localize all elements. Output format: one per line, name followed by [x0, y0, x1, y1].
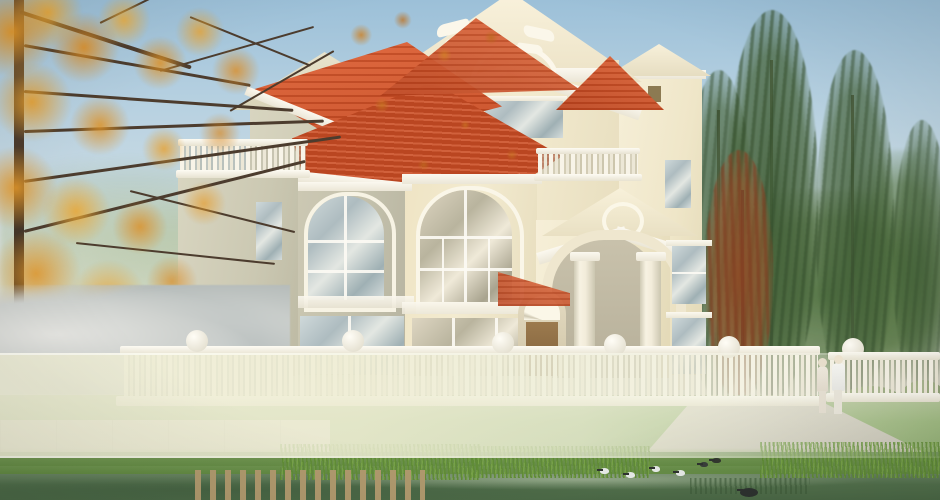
- bird: [626, 472, 635, 478]
- column-capital-left: [570, 252, 600, 261]
- right-wing-window-upper: [672, 246, 706, 304]
- window-transom: [672, 272, 706, 274]
- balustrade-finial-ball: [492, 332, 514, 354]
- window-head: [666, 240, 712, 246]
- villa-banner: Please choose the villa you want to live…: [0, 0, 940, 500]
- bird: [712, 458, 721, 463]
- caption-overlay-band: Please choose the villa you want to live…: [0, 353, 940, 458]
- wooden-pond-fence: [195, 470, 425, 500]
- window-head: [666, 312, 712, 318]
- window: [665, 160, 691, 208]
- column-capital-right: [636, 252, 666, 261]
- scattered-autumn-leaves: [330, 0, 590, 250]
- balustrade-finial-ball: [186, 330, 208, 352]
- bird: [652, 466, 660, 472]
- balustrade-finial-ball: [342, 330, 364, 352]
- bird: [600, 468, 609, 474]
- bird: [676, 470, 685, 476]
- bird: [700, 462, 708, 467]
- bird: [740, 488, 758, 497]
